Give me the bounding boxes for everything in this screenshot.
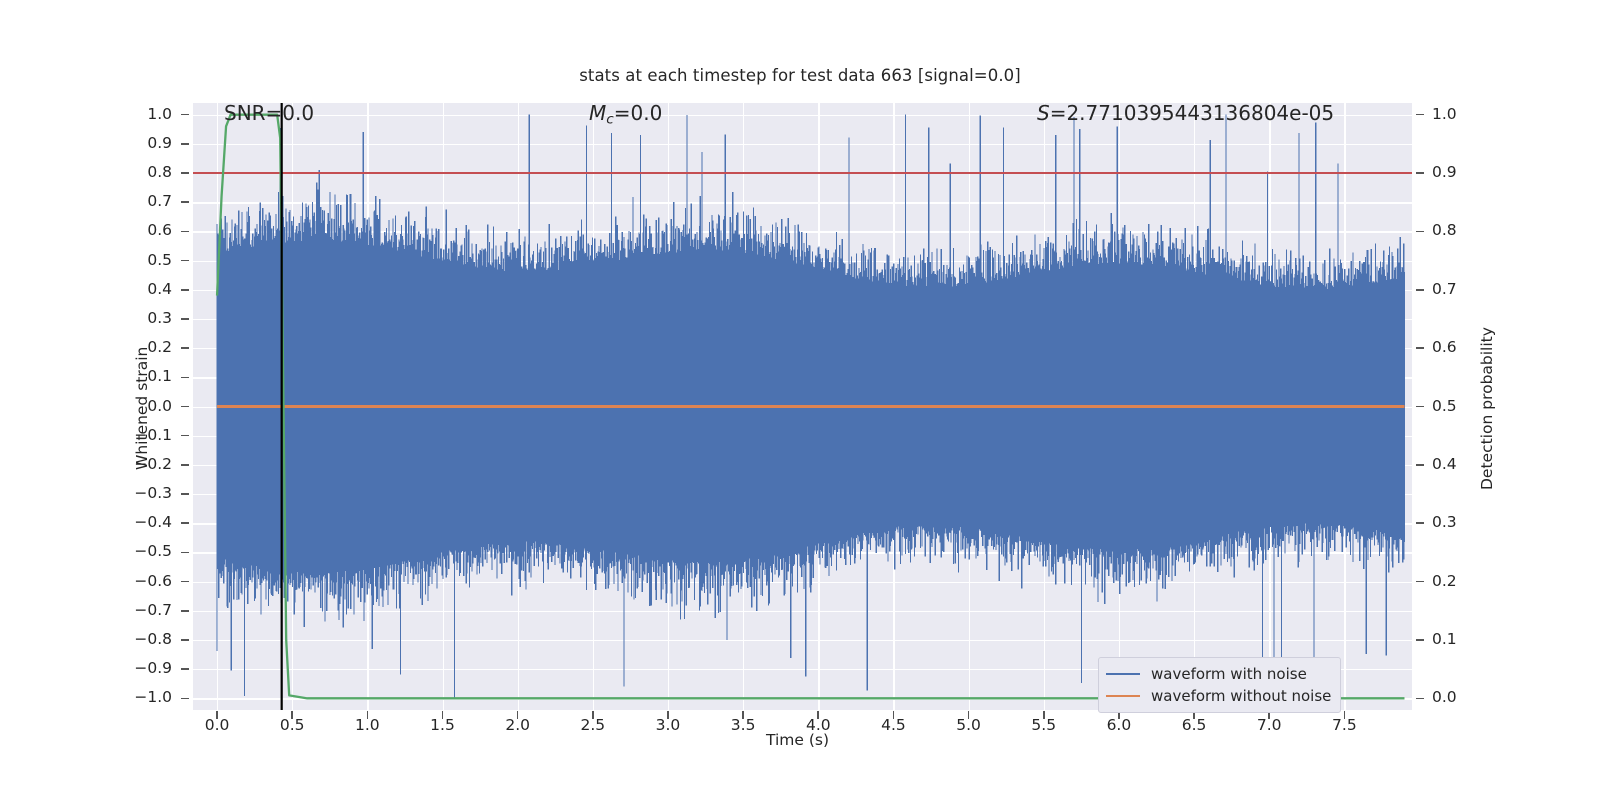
y-tick-mark-left <box>181 406 189 408</box>
y-tick-label-right: 0.2 <box>1432 572 1457 590</box>
legend-label-noise: waveform with noise <box>1151 665 1307 683</box>
y-tick-label-left: −0.1 <box>100 426 172 444</box>
y-tick-mark-left <box>181 698 189 700</box>
chirpmass-value: =0.0 <box>614 101 663 125</box>
y-tick-label-left: −0.4 <box>100 513 172 531</box>
y-tick-mark-right <box>1416 698 1424 700</box>
legend[interactable]: waveform with noise waveform without noi… <box>1098 657 1341 713</box>
x-tick-mark <box>442 711 444 719</box>
x-tick-mark <box>291 711 293 719</box>
statistic-symbol: S <box>1037 101 1050 125</box>
y-tick-label-right: 0.0 <box>1432 688 1457 706</box>
y-tick-mark-right <box>1416 172 1424 174</box>
x-tick-mark <box>742 711 744 719</box>
x-tick-mark <box>367 711 369 719</box>
x-tick-mark <box>592 711 594 719</box>
chirpmass-subscript: c <box>606 111 613 127</box>
chart-title: stats at each timestep for test data 663… <box>0 66 1600 85</box>
y-tick-mark-left <box>181 552 189 554</box>
y-tick-mark-left <box>181 114 189 116</box>
plot-area[interactable] <box>193 103 1412 710</box>
y-tick-mark-left <box>181 231 189 233</box>
y-tick-label-left: 0.5 <box>100 251 172 269</box>
y-tick-label-left: −0.8 <box>100 630 172 648</box>
y-tick-mark-left <box>181 143 189 145</box>
statistic-value: =2.7710395443136804e-05 <box>1050 101 1334 125</box>
y-tick-mark-right <box>1416 639 1424 641</box>
y-tick-label-left: 0.8 <box>100 163 172 181</box>
x-tick-mark <box>893 711 895 719</box>
y-tick-mark-left <box>181 464 189 466</box>
legend-swatch-clean <box>1106 695 1140 697</box>
y-tick-label-right: 0.3 <box>1432 513 1457 531</box>
x-tick-mark <box>817 711 819 719</box>
y-tick-mark-left <box>181 201 189 203</box>
y-tick-label-right: 0.5 <box>1432 397 1457 415</box>
legend-item-noise[interactable]: waveform with noise <box>1106 663 1331 685</box>
y-tick-label-left: −0.2 <box>100 455 172 473</box>
y-tick-mark-left <box>181 668 189 670</box>
y-tick-label-left: 0.0 <box>100 397 172 415</box>
chirpmass-symbol: M <box>589 101 606 125</box>
y-tick-mark-left <box>181 289 189 291</box>
y-tick-label-left: −0.9 <box>100 659 172 677</box>
y-tick-label-right: 0.4 <box>1432 455 1457 473</box>
y-tick-label-right: 0.9 <box>1432 163 1457 181</box>
y-tick-mark-left <box>181 260 189 262</box>
snr-annotation: SNR=0.0 <box>224 101 314 125</box>
y-tick-label-right: 0.8 <box>1432 221 1457 239</box>
y-tick-label-right: 1.0 <box>1432 105 1457 123</box>
data-layer <box>193 103 1412 710</box>
y-tick-mark-left <box>181 318 189 320</box>
legend-label-clean: waveform without noise <box>1151 687 1331 705</box>
y-tick-mark-right <box>1416 522 1424 524</box>
y-tick-mark-right <box>1416 347 1424 349</box>
y-tick-label-right: 0.6 <box>1432 338 1457 356</box>
y-tick-label-left: −0.5 <box>100 542 172 560</box>
y-tick-label-left: 1.0 <box>100 105 172 123</box>
y-tick-mark-left <box>181 639 189 641</box>
y-axis-label-right: Detection probability <box>1478 327 1496 490</box>
y-tick-mark-right <box>1416 464 1424 466</box>
y-tick-mark-left <box>181 522 189 524</box>
y-tick-label-left: 0.4 <box>100 280 172 298</box>
statistic-annotation: S=2.7710395443136804e-05 <box>1037 101 1334 125</box>
chirpmass-annotation: Mc=0.0 <box>589 101 662 127</box>
x-tick-mark <box>968 711 970 719</box>
y-tick-label-left: −1.0 <box>100 688 172 706</box>
y-tick-mark-right <box>1416 114 1424 116</box>
y-tick-mark-left <box>181 172 189 174</box>
x-tick-mark <box>1043 711 1045 719</box>
y-tick-mark-right <box>1416 289 1424 291</box>
y-tick-mark-left <box>181 610 189 612</box>
y-tick-mark-left <box>181 581 189 583</box>
legend-item-clean[interactable]: waveform without noise <box>1106 685 1331 707</box>
x-tick-mark <box>216 711 218 719</box>
y-tick-label-right: 0.7 <box>1432 280 1457 298</box>
y-tick-label-left: 0.9 <box>100 134 172 152</box>
y-tick-label-left: 0.7 <box>100 192 172 210</box>
y-tick-mark-right <box>1416 231 1424 233</box>
y-tick-mark-left <box>181 377 189 379</box>
x-tick-mark <box>667 711 669 719</box>
y-tick-label-left: 0.6 <box>100 221 172 239</box>
x-tick-mark <box>1344 711 1346 719</box>
y-tick-mark-left <box>181 493 189 495</box>
y-tick-label-left: 0.2 <box>100 338 172 356</box>
y-tick-mark-right <box>1416 581 1424 583</box>
y-tick-mark-right <box>1416 406 1424 408</box>
y-tick-label-left: −0.7 <box>100 601 172 619</box>
figure-canvas: stats at each timestep for test data 663… <box>0 0 1600 800</box>
y-tick-label-left: 0.3 <box>100 309 172 327</box>
y-tick-label-right: 0.1 <box>1432 630 1457 648</box>
x-tick-mark <box>517 711 519 719</box>
y-tick-label-left: 0.1 <box>100 367 172 385</box>
y-tick-label-left: −0.3 <box>100 484 172 502</box>
y-tick-mark-left <box>181 435 189 437</box>
y-tick-mark-left <box>181 347 189 349</box>
y-tick-label-left: −0.6 <box>100 572 172 590</box>
legend-swatch-noise <box>1106 673 1140 675</box>
